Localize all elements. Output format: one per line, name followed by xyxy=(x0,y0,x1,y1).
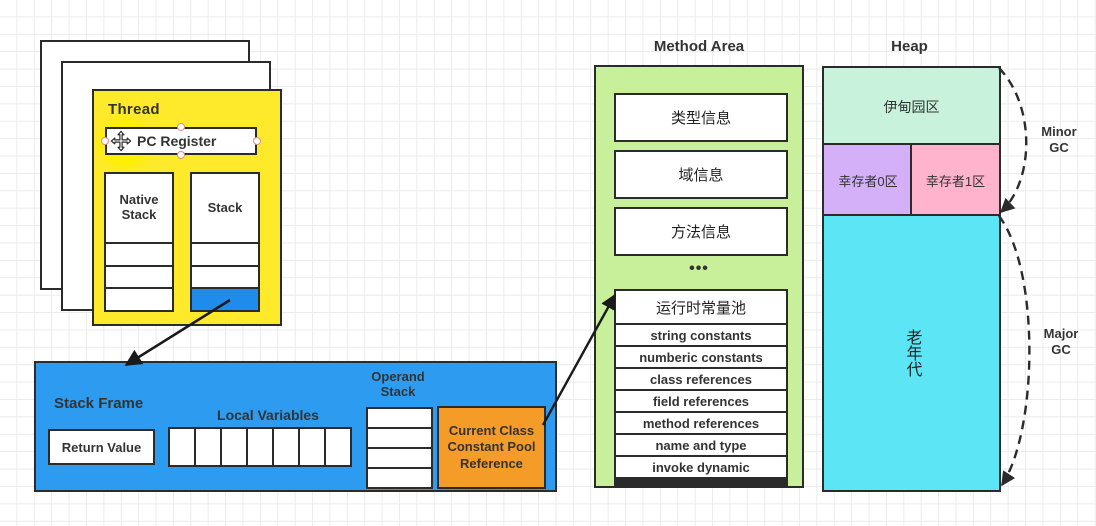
method-area-box-method-info[interactable]: 方法信息 xyxy=(614,207,788,256)
local-variable-cell xyxy=(248,429,272,465)
ccpr-line2: Constant Pool xyxy=(447,439,535,454)
stack-label: Stack xyxy=(192,174,258,244)
return-value-box[interactable]: Return Value xyxy=(48,429,155,465)
stack-frame-title: Stack Frame xyxy=(54,395,143,412)
native-stack-cell xyxy=(106,244,172,267)
thread-label: Thread xyxy=(108,101,160,118)
heap-region-survivor-0[interactable]: 幸存者0区 xyxy=(822,143,914,218)
constant-pool-item[interactable]: name and type xyxy=(616,435,786,455)
heap-region-survivor-1[interactable]: 幸存者1区 xyxy=(910,143,1001,218)
local-variable-cell xyxy=(326,429,350,465)
method-area-title: Method Area xyxy=(594,38,804,55)
heap-region-label: 伊甸园区 xyxy=(884,97,940,117)
operand-stack-label-line1: Operand xyxy=(371,369,424,384)
move-icon xyxy=(110,130,132,152)
local-variables-cells[interactable] xyxy=(168,427,352,467)
heap-region-old-generation[interactable]: 老年代 xyxy=(822,214,1001,492)
native-stack-label-line2: Stack xyxy=(122,207,157,222)
stack-cell-active[interactable] xyxy=(192,289,258,310)
native-stack-label-line1: Native xyxy=(119,192,158,207)
operand-stack-cell xyxy=(368,409,431,427)
operand-stack-label-line2: Stack xyxy=(381,384,416,399)
method-area-box-label: 域信息 xyxy=(678,164,723,185)
minor-gc-line1: Minor xyxy=(1041,124,1076,139)
stack-label-text: Stack xyxy=(208,201,243,216)
pc-register-handle-top[interactable] xyxy=(177,123,185,131)
method-area-box-type-info[interactable]: 类型信息 xyxy=(614,93,788,142)
method-area-box-field-info[interactable]: 域信息 xyxy=(614,150,788,199)
stack-box[interactable]: Stack xyxy=(190,172,260,312)
heap-region-eden[interactable]: 伊甸园区 xyxy=(822,66,1001,147)
local-variable-cell xyxy=(196,429,220,465)
heap-region-label: 老年代 xyxy=(902,329,922,377)
heap-region-label: 幸存者0区 xyxy=(838,171,897,190)
constant-pool-item[interactable]: invoke dynamic xyxy=(616,457,786,477)
native-stack-cell xyxy=(106,289,172,310)
minor-gc-label: Minor GC xyxy=(1028,124,1090,155)
method-area-box-label: 方法信息 xyxy=(671,221,731,242)
method-area-box-label: 类型信息 xyxy=(671,107,731,128)
return-value-label: Return Value xyxy=(62,440,141,455)
major-gc-line1: Major xyxy=(1044,326,1079,341)
major-gc-label: Major GC xyxy=(1030,326,1092,357)
operand-stack-cell xyxy=(368,469,431,487)
native-stack-box[interactable]: Native Stack xyxy=(104,172,174,312)
local-variable-cell xyxy=(170,429,194,465)
pc-register-handle-left[interactable] xyxy=(101,137,109,145)
minor-gc-line2: GC xyxy=(1049,140,1069,155)
operand-stack-label: Operand Stack xyxy=(358,370,438,400)
constant-pool-item[interactable]: field references xyxy=(616,391,786,411)
operand-stack-cell xyxy=(368,449,431,467)
stack-cell xyxy=(192,244,258,267)
diagram-canvas: Thread PC Register Native Stack Stack xyxy=(0,0,1096,526)
local-variables-label: Local Variables xyxy=(188,407,348,423)
constant-pool-item[interactable]: numberic constants xyxy=(616,347,786,367)
pc-register-handle-bottom[interactable] xyxy=(177,151,185,159)
arrow-major-gc xyxy=(999,216,1029,485)
operand-stack-cells[interactable] xyxy=(366,407,433,489)
pc-register-label: PC Register xyxy=(137,133,216,149)
native-stack-cell xyxy=(106,267,172,290)
major-gc-line2: GC xyxy=(1051,342,1071,357)
ccpr-line1: Current Class xyxy=(449,423,534,438)
heap-region-label: 幸存者1区 xyxy=(926,171,985,190)
arrow-minor-gc xyxy=(999,68,1026,212)
local-variable-cell xyxy=(222,429,246,465)
stack-cell xyxy=(192,267,258,290)
heap-title: Heap xyxy=(822,38,997,55)
operand-stack-cell xyxy=(368,429,431,447)
local-variable-cell xyxy=(300,429,324,465)
current-class-constant-pool-reference-box[interactable]: Current Class Constant Pool Reference xyxy=(437,406,546,489)
pc-register-handle-right[interactable] xyxy=(253,137,261,145)
ccpr-line3: Reference xyxy=(460,456,523,471)
runtime-constant-pool-group[interactable]: 运行时常量池 string constants numberic constan… xyxy=(614,289,788,486)
runtime-constant-pool-header: 运行时常量池 xyxy=(616,291,786,323)
constant-pool-item[interactable]: string constants xyxy=(616,325,786,345)
method-area-ellipsis: ••• xyxy=(614,260,784,278)
constant-pool-item[interactable]: class references xyxy=(616,369,786,389)
constant-pool-item[interactable]: method references xyxy=(616,413,786,433)
local-variable-cell xyxy=(274,429,298,465)
native-stack-label: Native Stack xyxy=(106,174,172,244)
